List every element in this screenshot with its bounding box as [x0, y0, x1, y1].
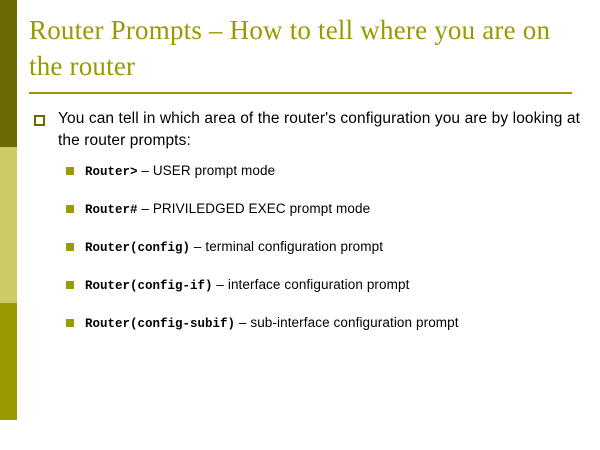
list-item: Router> – USER prompt mode: [0, 152, 600, 190]
slide-body: You can tell in which area of the router…: [0, 108, 600, 342]
router-prompt-text: Router#: [85, 203, 138, 217]
slide-title: Router Prompts – How to tell where you a…: [29, 12, 574, 84]
list-item: You can tell in which area of the router…: [0, 108, 600, 152]
router-prompt-text: Router(config): [85, 241, 190, 255]
prompt-description-text: – terminal configuration prompt: [190, 239, 383, 254]
hollow-square-bullet-icon: [34, 115, 45, 126]
prompt-description-text: – interface configuration prompt: [213, 277, 410, 292]
filled-square-bullet-icon: [66, 167, 74, 175]
prompt-description-text: – USER prompt mode: [138, 163, 276, 178]
slide: Router Prompts – How to tell where you a…: [0, 0, 600, 450]
prompt-description-text: – PRIVILEDGED EXEC prompt mode: [138, 201, 371, 216]
filled-square-bullet-icon: [66, 281, 74, 289]
prompt-description-text: – sub-interface configuration prompt: [235, 315, 459, 330]
prompt-list: Router> – USER prompt mode Router# – PRI…: [0, 152, 600, 342]
title-divider: [29, 92, 572, 94]
router-prompt-text: Router>: [85, 165, 138, 179]
main-bullet-text: You can tell in which area of the router…: [58, 108, 582, 152]
list-item: Router# – PRIVILEDGED EXEC prompt mode: [0, 190, 600, 228]
router-prompt-text: Router(config-subif): [85, 317, 235, 331]
router-prompt-text: Router(config-if): [85, 279, 213, 293]
list-item: Router(config-if) – interface configurat…: [0, 266, 600, 304]
list-item: Router(config) – terminal configuration …: [0, 228, 600, 266]
filled-square-bullet-icon: [66, 205, 74, 213]
filled-square-bullet-icon: [66, 243, 74, 251]
list-item: Router(config-subif) – sub-interface con…: [0, 304, 600, 342]
filled-square-bullet-icon: [66, 319, 74, 327]
